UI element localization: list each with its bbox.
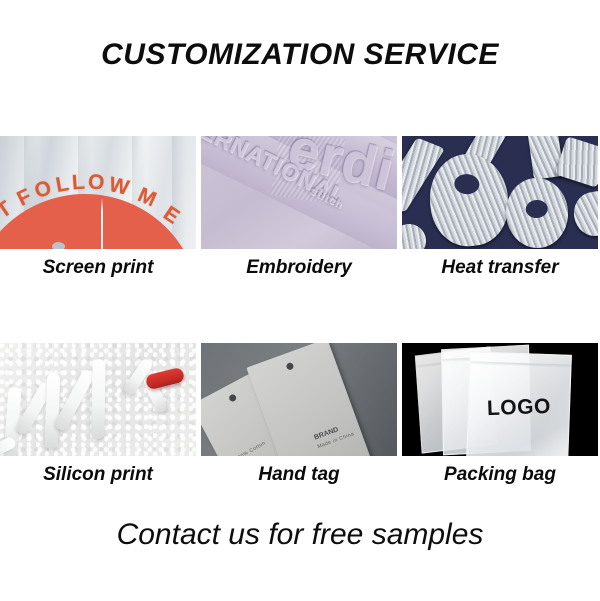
tag-punch-hole	[285, 362, 294, 371]
service-gallery: N ' T F O L L O W M E	[0, 136, 600, 486]
silicon-red-accent	[145, 367, 186, 391]
screen-print-fabric: N ' T F O L L O W M E	[0, 136, 196, 249]
gallery-item-caption: Silicon print	[0, 464, 196, 486]
silicon-print-photo	[0, 343, 196, 456]
packing-bag-front: LOGO	[466, 351, 572, 456]
gallery-item-caption: Embroidery	[201, 257, 397, 279]
packing-bag-scene: LOGO	[402, 343, 598, 456]
silicon-stroke	[45, 373, 61, 449]
hand-tag-scene: 100% Cotton BRAND Made in China	[201, 343, 397, 456]
hand-tag-photo: 100% Cotton BRAND Made in China	[201, 343, 397, 456]
heat-transfer-glyph-nine	[425, 150, 512, 249]
packing-bag-photo: LOGO	[402, 343, 598, 456]
screen-print-photo: N ' T F O L L O W M E	[0, 136, 196, 249]
page-title: CUSTOMIZATION SERVICE	[0, 38, 600, 72]
tag-text-back: 100% Cotton	[234, 440, 268, 456]
heat-transfer-glyph	[570, 189, 598, 239]
gallery-item-caption: Heat transfer	[402, 257, 598, 279]
gallery-item-silicon-print[interactable]: Silicon print	[0, 343, 196, 486]
heat-transfer-glyph-eight	[504, 176, 571, 249]
tag-punch-hole	[228, 393, 237, 402]
heat-transfer-photo	[402, 136, 598, 249]
call-to-action-text: Contact us for free samples	[0, 518, 600, 552]
heat-transfer-glyph	[402, 222, 428, 249]
heat-transfer-glyph	[555, 136, 598, 188]
embroidery-photo: erdi ERNATIONAL stitch	[201, 136, 397, 249]
gallery-item-hand-tag[interactable]: 100% Cotton BRAND Made in China Hand tag	[201, 343, 397, 486]
screen-print-arc-text: N ' T F O L L O W M E	[0, 166, 196, 249]
gallery-item-heat-transfer[interactable]: Heat transfer	[402, 136, 598, 279]
gallery-item-screen-print[interactable]: N ' T F O L L O W M E	[0, 136, 196, 279]
silicon-print-fabric	[0, 343, 196, 456]
gallery-item-packing-bag[interactable]: LOGO Packing bag	[402, 343, 598, 486]
heat-transfer-fabric	[402, 136, 598, 249]
gallery-row: N ' T F O L L O W M E	[0, 136, 600, 279]
gallery-item-caption: Hand tag	[201, 464, 397, 486]
embroidery-fabric: erdi ERNATIONAL stitch	[201, 136, 397, 249]
gallery-item-embroidery[interactable]: erdi ERNATIONAL stitch Embroidery	[201, 136, 397, 279]
silicon-stroke	[91, 359, 105, 439]
bag-logo-text: LOGO	[487, 395, 552, 421]
gallery-row: Silicon print 100% Cotton BRAND Made in …	[0, 343, 600, 486]
gallery-item-caption: Packing bag	[402, 464, 598, 486]
gallery-item-caption: Screen print	[0, 257, 196, 279]
customization-service-banner: CUSTOMIZATION SERVICE N	[0, 0, 600, 601]
